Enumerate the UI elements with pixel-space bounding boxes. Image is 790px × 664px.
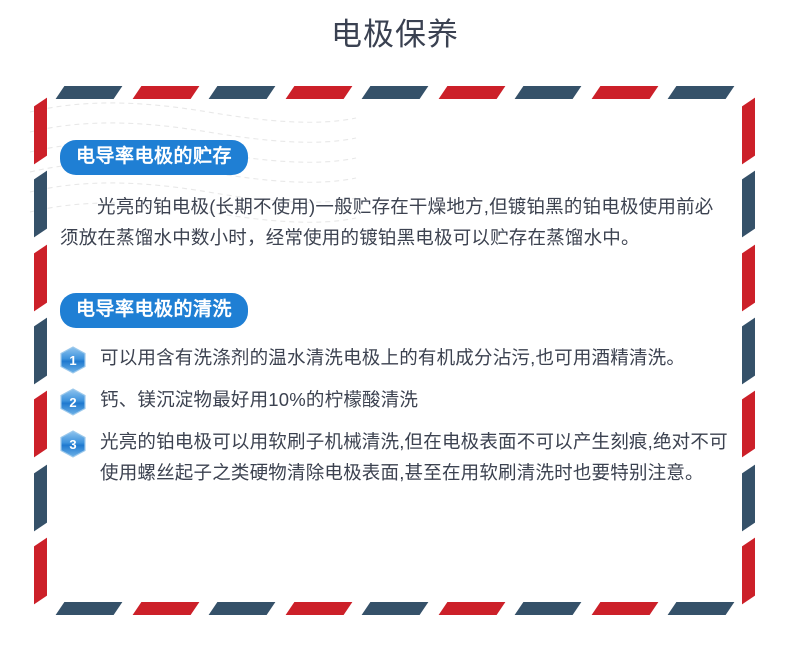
frame-dash <box>742 318 755 385</box>
list-item: 1 可以用含有洗涤剂的温水清洗电极上的有机成分沾污,也可用酒精清洗。 <box>60 342 732 374</box>
hex-number-label: 2 <box>60 388 86 416</box>
hex-number-icon: 1 <box>60 346 86 374</box>
frame-top-row <box>60 86 730 100</box>
hex-number-label: 3 <box>60 430 86 458</box>
list-item-text: 光亮的铂电极可以用软刷子机械清洗,但在电极表面不可以产生刻痕,绝对不可使用螺丝起… <box>100 426 732 488</box>
poster-page: 电极保养 <box>0 0 790 664</box>
frame-dash <box>438 602 505 615</box>
hex-number-icon: 2 <box>60 388 86 416</box>
list-item: 3 光亮的铂电极可以用软刷子机械清洗,但在电极表面不可以产生刻痕,绝对不可使用螺… <box>60 426 732 488</box>
frame-dash <box>668 86 735 99</box>
frame-dash <box>591 86 658 99</box>
frame-dash <box>591 602 658 615</box>
frame-dash <box>34 171 47 238</box>
cleaning-step-list: 1 可以用含有洗涤剂的温水清洗电极上的有机成分沾污,也可用酒精清洗。 2 钙、镁… <box>60 342 732 488</box>
frame-dash <box>438 86 505 99</box>
frame-dash <box>742 98 755 165</box>
frame-dash <box>34 538 47 605</box>
frame-dash <box>34 98 47 165</box>
frame-dash <box>742 171 755 238</box>
list-item-text: 钙、镁沉淀物最好用10%的柠檬酸清洗 <box>100 384 732 415</box>
frame-dash <box>34 244 47 311</box>
frame-dash <box>742 391 755 458</box>
frame-dash <box>132 86 199 99</box>
frame-bottom-row <box>60 602 730 616</box>
frame-right-col <box>742 102 756 600</box>
section-heading-cleaning: 电导率电极的清洗 <box>60 293 248 328</box>
section-cleaning: 电导率电极的清洗 <box>60 293 732 488</box>
storage-paragraph: 光亮的铂电极(长期不使用)一般贮存在干燥地方,但镀铂黑的铂电极使用前必须放在蒸馏… <box>60 191 732 253</box>
page-title: 电极保养 <box>0 14 790 56</box>
frame-dash <box>209 602 276 615</box>
frame-dash <box>362 602 429 615</box>
section-storage: 电导率电极的贮存 光亮的铂电极(长期不使用)一般贮存在干燥地方,但镀铂黑的铂电极… <box>60 140 732 253</box>
frame-dash <box>34 391 47 458</box>
frame-left-col <box>34 102 48 600</box>
frame-dash <box>34 464 47 531</box>
frame-dash <box>285 86 352 99</box>
frame-dash <box>34 318 47 385</box>
frame-dash <box>515 86 582 99</box>
frame-dash <box>56 602 123 615</box>
frame-dash <box>515 602 582 615</box>
frame-dash <box>209 86 276 99</box>
content-area: 电导率电极的贮存 光亮的铂电极(长期不使用)一般贮存在干燥地方,但镀铂黑的铂电极… <box>60 140 732 498</box>
frame-dash <box>56 86 123 99</box>
frame-dash <box>285 602 352 615</box>
hex-number-icon: 3 <box>60 430 86 458</box>
list-item: 2 钙、镁沉淀物最好用10%的柠檬酸清洗 <box>60 384 732 416</box>
section-heading-storage: 电导率电极的贮存 <box>60 140 248 175</box>
list-item-text: 可以用含有洗涤剂的温水清洗电极上的有机成分沾污,也可用酒精清洗。 <box>100 342 732 373</box>
frame-dash <box>362 86 429 99</box>
frame-dash <box>742 538 755 605</box>
frame-dash <box>742 244 755 311</box>
frame-dash <box>742 464 755 531</box>
frame-dash <box>668 602 735 615</box>
frame-dash <box>132 602 199 615</box>
hex-number-label: 1 <box>60 346 86 374</box>
